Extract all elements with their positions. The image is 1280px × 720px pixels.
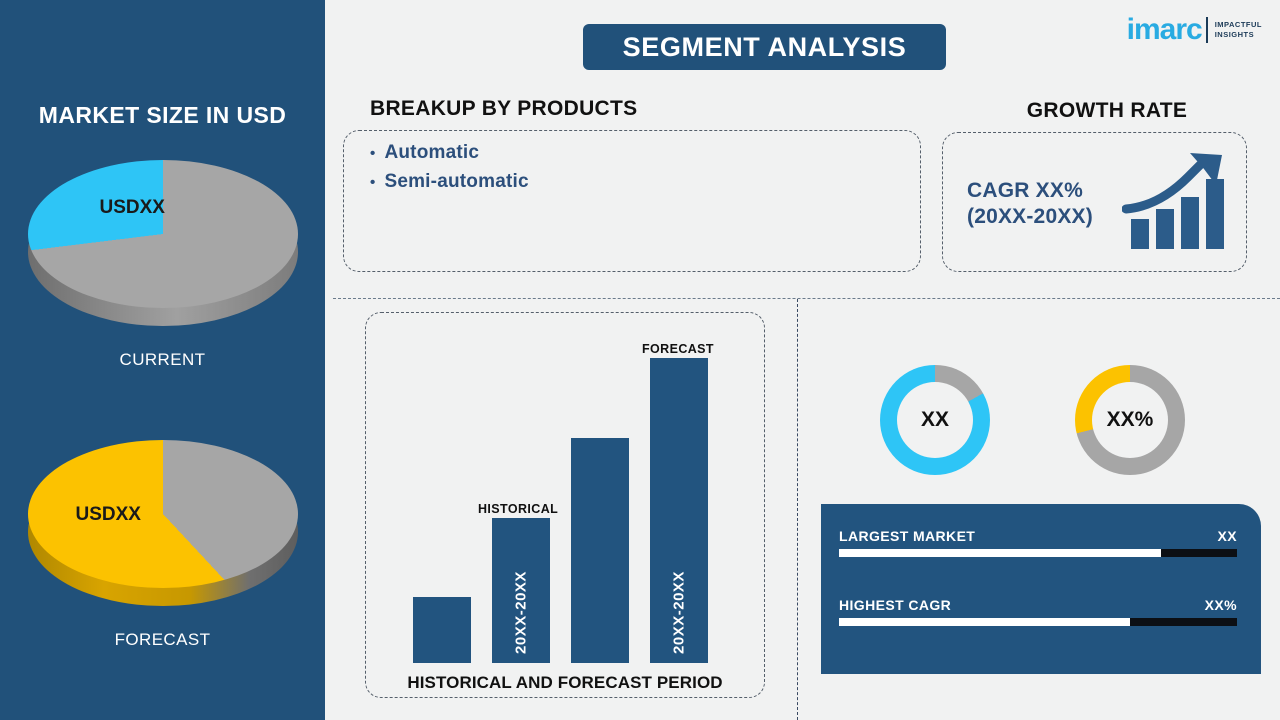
bar-2: 20XX-20XX: [492, 518, 550, 663]
pie-slice-label-forecast: USDXX: [76, 504, 141, 526]
vertical-divider: [797, 299, 798, 720]
growth-panel: CAGR XX% (20XX-20XX): [942, 132, 1247, 272]
imarc-logo: imarc IMPACTFUL INSIGHTS: [1127, 12, 1262, 48]
bullet-icon: •: [370, 146, 375, 161]
bar-2-label: 20XX-20XX: [513, 568, 530, 658]
largest-market-donut: XX: [880, 365, 990, 475]
sidebar: MARKET SIZE IN USD USDXX CURRENT USDXX F…: [0, 0, 325, 720]
pie-stage-forecast: USDXX: [28, 440, 298, 620]
metric-progress-track: [839, 618, 1237, 626]
list-item-label: Automatic: [384, 142, 479, 164]
main-content: SEGMENT ANALYSIS imarc IMPACTFUL INSIGHT…: [325, 0, 1280, 720]
market-size-forecast-pie: USDXX FORECAST: [0, 440, 325, 650]
metric-progress-fill: [839, 549, 1161, 557]
logo-divider: [1206, 17, 1208, 43]
bar-4-label: 20XX-20XX: [671, 568, 688, 658]
logo-tagline-line2: INSIGHTS: [1215, 30, 1262, 40]
growth-heading: GROWTH RATE: [942, 99, 1272, 123]
pie-caption-current: CURRENT: [0, 350, 325, 370]
logo-tagline-line1: IMPACTFUL: [1215, 20, 1262, 30]
market-size-current-pie: USDXX CURRENT: [0, 160, 325, 370]
metrics-panel: LARGEST MARKET XX HIGHEST CAGR XX%: [821, 504, 1261, 674]
donut-center-label: XX%: [1107, 408, 1154, 432]
products-heading: BREAKUP BY PRODUCTS: [370, 97, 637, 121]
list-item-label: Semi-automatic: [384, 171, 528, 193]
metric-label: HIGHEST CAGR: [839, 597, 951, 613]
historical-forecast-barchart: 20XX-20XX 20XX-20XX HISTORICAL FORECAST …: [365, 312, 765, 698]
metric-header: HIGHEST CAGR XX%: [839, 597, 1237, 613]
donut-center: XX%: [1092, 382, 1168, 458]
list-item[interactable]: • Automatic: [370, 142, 529, 164]
bar-3: [571, 438, 629, 663]
donut-center: XX: [897, 382, 973, 458]
horizontal-divider: [333, 298, 1280, 299]
growth-arrow-bars-icon: [1122, 147, 1232, 257]
forecast-annotation: FORECAST: [642, 342, 714, 356]
page-title: SEGMENT ANALYSIS: [623, 32, 907, 63]
pie-top-current: [28, 160, 298, 308]
cagr-value: CAGR XX%: [967, 178, 1093, 204]
metric-value: XX: [1218, 528, 1237, 544]
highest-cagr-donut: XX%: [1075, 365, 1185, 475]
metric-row: HIGHEST CAGR XX%: [839, 597, 1237, 626]
sidebar-title: MARKET SIZE IN USD: [0, 102, 325, 129]
cagr-text-block: CAGR XX% (20XX-20XX): [967, 178, 1093, 229]
bullet-icon: •: [370, 175, 375, 190]
pie-stage-current: USDXX: [28, 160, 298, 340]
metric-header: LARGEST MARKET XX: [839, 528, 1237, 544]
products-list: • Automatic • Semi-automatic: [370, 142, 529, 200]
metric-label: LARGEST MARKET: [839, 528, 975, 544]
metric-value: XX%: [1205, 597, 1237, 613]
bar-4: 20XX-20XX: [650, 358, 708, 663]
bar-1: [413, 597, 471, 663]
donut-center-label: XX: [921, 408, 949, 432]
metric-progress-fill: [839, 618, 1130, 626]
pie-caption-forecast: FORECAST: [0, 630, 325, 650]
historical-annotation: HISTORICAL: [478, 502, 558, 516]
logo-wordmark: imarc: [1127, 15, 1202, 45]
barchart-caption: HISTORICAL AND FORECAST PERIOD: [365, 673, 765, 693]
metric-row: LARGEST MARKET XX: [839, 528, 1237, 557]
logo-tagline: IMPACTFUL INSIGHTS: [1215, 20, 1262, 40]
page-title-banner: SEGMENT ANALYSIS: [583, 24, 946, 70]
metric-progress-track: [839, 549, 1237, 557]
cagr-period: (20XX-20XX): [967, 204, 1093, 230]
list-item[interactable]: • Semi-automatic: [370, 171, 529, 193]
pie-top-forecast: [28, 440, 298, 588]
products-panel: • Automatic • Semi-automatic: [343, 130, 921, 272]
pie-slice-label-current: USDXX: [100, 197, 165, 219]
